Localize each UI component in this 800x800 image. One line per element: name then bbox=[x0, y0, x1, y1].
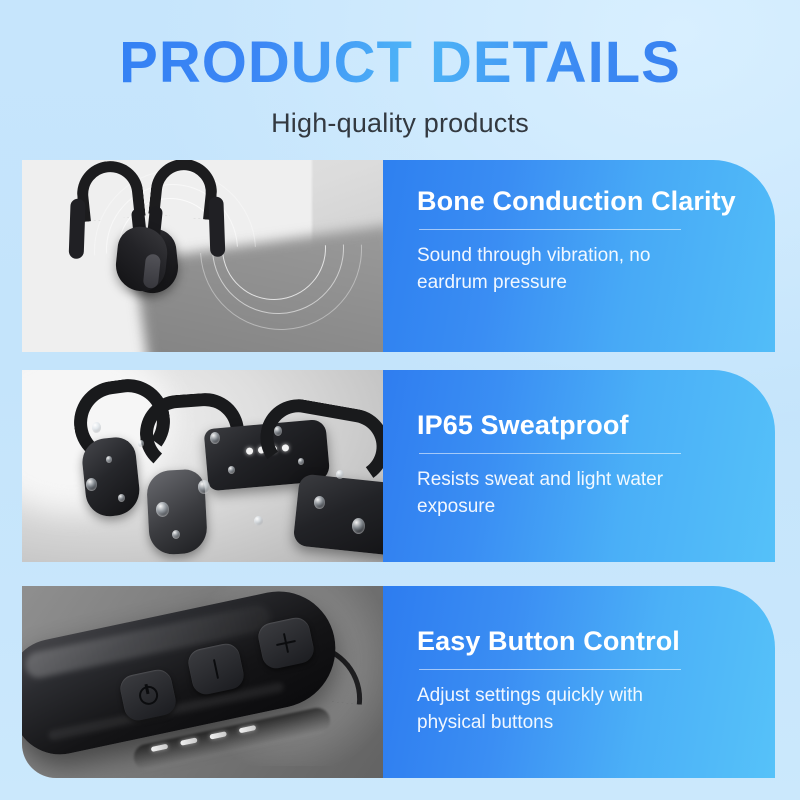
water-droplet bbox=[210, 432, 220, 444]
battery-module bbox=[293, 473, 383, 558]
water-droplet bbox=[336, 470, 344, 479]
led-dot bbox=[246, 447, 254, 455]
feature-card-sweatproof: IP65 Sweatproof Resists sweat and light … bbox=[22, 370, 775, 562]
feature-card-button-control: Easy Button Control Adjust settings quic… bbox=[22, 586, 775, 778]
feature-description: Adjust settings quickly with physical bu… bbox=[417, 683, 707, 737]
feature-description: Sound through vibration, no eardrum pres… bbox=[417, 243, 707, 297]
feature-title: Easy Button Control bbox=[417, 610, 745, 657]
water-droplet bbox=[138, 440, 144, 447]
earhook-driver-pod bbox=[80, 435, 142, 518]
power-icon bbox=[137, 684, 160, 707]
feature-panel-sweatproof: IP65 Sweatproof Resists sweat and light … bbox=[383, 370, 775, 562]
water-droplet bbox=[298, 458, 304, 465]
water-droplet bbox=[118, 494, 125, 502]
water-droplet bbox=[254, 516, 263, 526]
feature-title: IP65 Sweatproof bbox=[417, 394, 745, 441]
header: PRODUCT DETAILS High-quality products bbox=[0, 0, 800, 139]
water-droplet bbox=[198, 480, 210, 494]
feature-title: Bone Conduction Clarity bbox=[417, 184, 745, 217]
water-droplet bbox=[106, 456, 112, 463]
earhook-arm bbox=[208, 197, 225, 257]
feature-card-bone-conduction: Bone Conduction Clarity Sound through vi… bbox=[22, 160, 775, 352]
water-droplet bbox=[352, 518, 365, 534]
product-photo-button-control bbox=[22, 586, 383, 778]
plus-icon bbox=[274, 631, 298, 655]
feature-description: Resists sweat and light water exposure bbox=[417, 467, 707, 521]
water-droplet bbox=[314, 496, 325, 509]
page-subtitle: High-quality products bbox=[0, 108, 800, 139]
feature-panel-button-control: Easy Button Control Adjust settings quic… bbox=[383, 586, 775, 778]
water-droplet bbox=[172, 530, 180, 539]
water-droplet bbox=[156, 502, 169, 517]
product-photo-bone-conduction bbox=[22, 160, 383, 352]
water-droplet bbox=[274, 426, 282, 436]
page-title: PRODUCT DETAILS bbox=[0, 34, 800, 92]
minus-icon bbox=[213, 659, 220, 679]
divider bbox=[419, 229, 681, 230]
water-droplet bbox=[92, 422, 101, 433]
feature-panel-bone-conduction: Bone Conduction Clarity Sound through vi… bbox=[383, 160, 775, 352]
water-droplet bbox=[86, 478, 97, 491]
water-droplet bbox=[228, 466, 235, 474]
product-photo-sweatproof bbox=[22, 370, 383, 562]
divider bbox=[419, 669, 681, 670]
divider bbox=[419, 453, 681, 454]
earhook-arm bbox=[69, 199, 86, 259]
product-details-page: PRODUCT DETAILS High-quality products bbox=[0, 0, 800, 800]
